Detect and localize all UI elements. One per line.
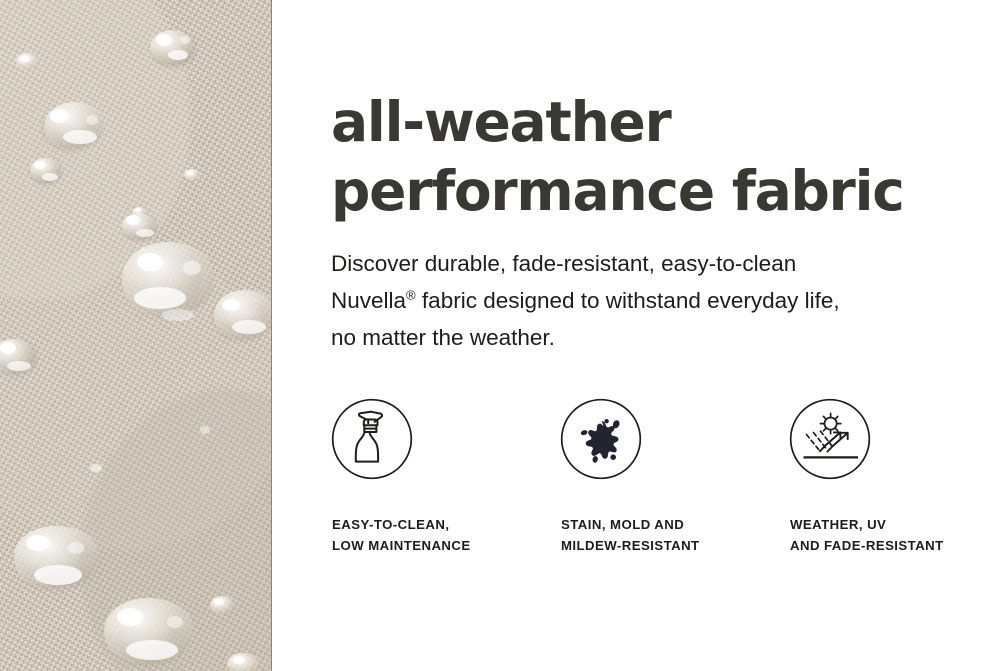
feature-list: EASY-TO-CLEAN, LOW MAINTENANCE STAIN, MO…	[331, 398, 991, 556]
fabric-photo-panel	[0, 0, 272, 671]
feature-caption: WEATHER, UV AND FADE-RESISTANT	[790, 514, 944, 556]
subcopy: Discover durable, fade-resistant, easy-t…	[331, 245, 951, 356]
sun-uv-reflect-icon	[789, 398, 871, 480]
feature-item-stain-resistant: STAIN, MOLD AND MILDEW-RESISTANT	[560, 398, 789, 556]
fabric-photo	[0, 0, 271, 671]
feature-item-weather-uv: WEATHER, UV AND FADE-RESISTANT	[789, 398, 944, 556]
spray-bottle-icon	[331, 398, 413, 480]
feature-caption: EASY-TO-CLEAN, LOW MAINTENANCE	[332, 514, 471, 556]
feature-caption: STAIN, MOLD AND MILDEW-RESISTANT	[561, 514, 700, 556]
feature-item-easy-to-clean: EASY-TO-CLEAN, LOW MAINTENANCE	[331, 398, 560, 556]
subcopy-line-2: fabric designed to withstand everyday li…	[416, 288, 840, 313]
subcopy-line-1: Discover durable, fade-resistant, easy-t…	[331, 251, 796, 276]
splat-shape	[580, 419, 621, 463]
page-title: all-weather performance fabric	[331, 88, 991, 226]
content-panel: all-weather performance fabric Discover …	[272, 0, 1005, 671]
brand-name: Nuvella	[331, 288, 406, 313]
subcopy-line-3: no matter the weather.	[331, 325, 555, 350]
stain-splat-icon	[560, 398, 642, 480]
registered-mark: ®	[406, 288, 416, 303]
all-weather-fabric-page: all-weather performance fabric Discover …	[0, 0, 1005, 671]
